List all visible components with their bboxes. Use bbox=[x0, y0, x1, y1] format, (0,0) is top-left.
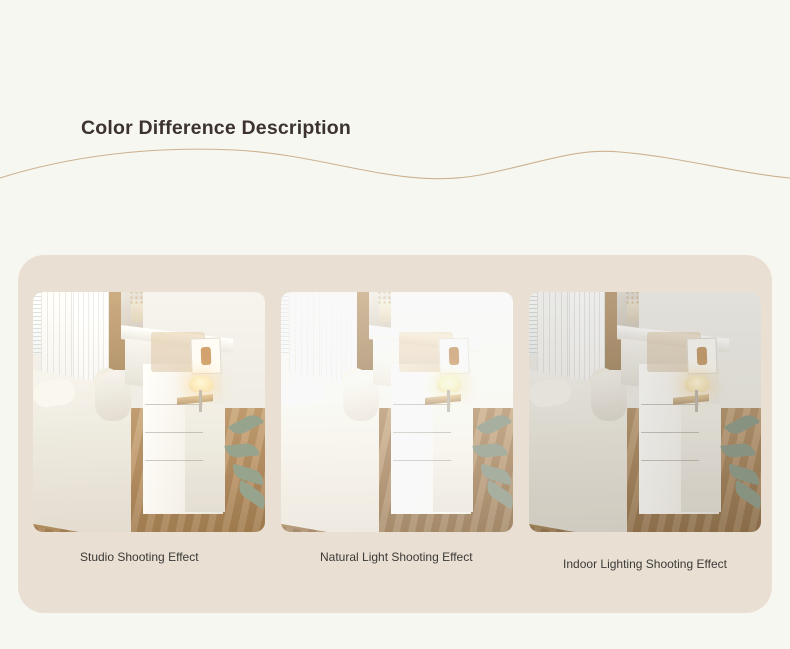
photo-studio[interactable] bbox=[33, 292, 265, 532]
drawer-line bbox=[145, 460, 203, 461]
page-title: Color Difference Description bbox=[81, 117, 351, 140]
drawer-line bbox=[393, 404, 451, 405]
deer-artwork bbox=[697, 347, 708, 365]
bedroom-scene bbox=[529, 292, 761, 532]
potted-plant bbox=[719, 410, 761, 506]
wave-divider-icon bbox=[0, 140, 790, 210]
dresser-side-panel bbox=[433, 404, 473, 512]
color-difference-section: Color Difference Description bbox=[0, 0, 790, 649]
photo-natural-light[interactable] bbox=[281, 292, 513, 532]
dresser-side-panel bbox=[681, 404, 721, 512]
caption-natural-light: Natural Light Shooting Effect bbox=[281, 550, 513, 572]
caption-studio: Studio Shooting Effect bbox=[33, 550, 265, 572]
bedroom-scene bbox=[33, 292, 265, 532]
drawer-line bbox=[641, 404, 699, 405]
drawer-line bbox=[393, 460, 451, 461]
deer-artwork bbox=[201, 347, 212, 365]
table-lamp-stem bbox=[447, 390, 450, 412]
drawer-line bbox=[145, 404, 203, 405]
photo-gallery bbox=[33, 292, 757, 532]
table-lamp-stem bbox=[199, 390, 202, 412]
bedroom-scene bbox=[281, 292, 513, 532]
picture-frame bbox=[686, 337, 717, 374]
dried-flowers bbox=[129, 292, 145, 304]
caption-indoor-lighting: Indoor Lighting Shooting Effect bbox=[529, 550, 761, 572]
dried-flowers bbox=[377, 292, 393, 304]
photo-indoor-lighting[interactable] bbox=[529, 292, 761, 532]
drawer-line bbox=[393, 432, 451, 433]
drawer-line bbox=[145, 432, 203, 433]
drawer-line bbox=[641, 460, 699, 461]
potted-plant bbox=[223, 410, 265, 506]
dried-flowers bbox=[625, 292, 641, 304]
dresser-side-panel bbox=[185, 404, 225, 512]
deer-artwork bbox=[449, 347, 460, 365]
photo-comparison-card: Studio Shooting Effect Natural Light Sho… bbox=[18, 255, 772, 613]
potted-plant bbox=[471, 410, 513, 506]
drawer-line bbox=[641, 432, 699, 433]
photo-captions: Studio Shooting Effect Natural Light Sho… bbox=[33, 550, 757, 572]
table-lamp-stem bbox=[695, 390, 698, 412]
picture-frame bbox=[190, 337, 221, 374]
picture-frame bbox=[438, 337, 469, 374]
